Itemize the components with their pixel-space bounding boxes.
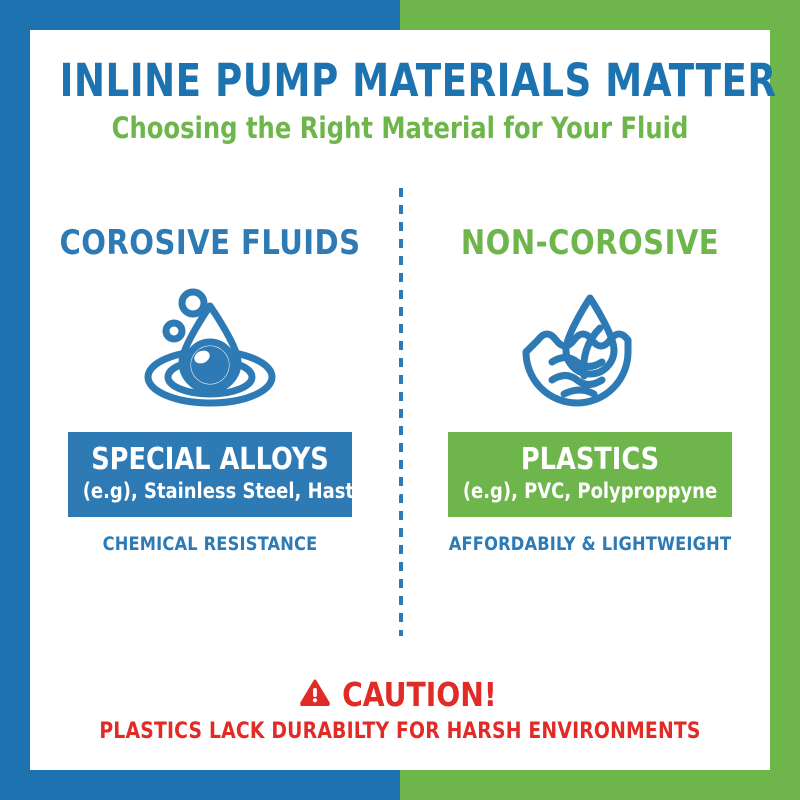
badge-subtitle-plastics: (e.g), PVC, Polyproppyne [463,480,718,503]
caution-heading: CAUTION! [30,678,770,711]
column-non-corrosive: NON-COROSIVE PLASTICS (e.g), PVC, Polypr… [420,226,760,555]
benefit-affordability-lightweight: AFFORDABILY & LIGHTWEIGHT [429,533,752,555]
column-heading-corrosive: COROSIVE FLUIDS [49,226,372,260]
content-card: INLINE PUMP MATERIALS MATTER Choosing th… [30,30,770,770]
caution-footer: CAUTION! PLASTICS LACK DURABILTY FOR HAR… [30,678,770,744]
infographic-canvas: INLINE PUMP MATERIALS MATTER Choosing th… [0,0,800,800]
caution-message: PLASTICS LACK DURABILTY FOR HARSH ENVIRO… [49,719,752,744]
page-title: INLINE PUMP MATERIALS MATTER [60,58,741,103]
column-heading-non-corrosive: NON-COROSIVE [429,226,752,260]
page-subtitle: Choosing the Right Material for Your Flu… [56,114,744,143]
water-droplet-ripple-icon [40,282,380,414]
warning-triangle-icon [300,678,330,711]
column-divider [399,188,403,636]
caution-label: CAUTION! [342,678,497,711]
badge-title-plastics: PLASTICS [463,444,718,476]
badge-title-special-alloys: SPECIAL ALLOYS [83,444,338,476]
badge-special-alloys: SPECIAL ALLOYS (e.g), Stainless Steel, H… [68,432,352,517]
badge-plastics: PLASTICS (e.g), PVC, Polyproppyne [448,432,732,517]
badge-subtitle-special-alloys: (e.g), Stainless Steel, Hastelloy) [83,480,338,503]
column-corrosive: COROSIVE FLUIDS SPECIAL ALLOYS [40,226,380,555]
benefit-chemical-resistance: CHEMICAL RESISTANCE [49,533,372,555]
water-bowl-droplet-icon [420,282,760,414]
